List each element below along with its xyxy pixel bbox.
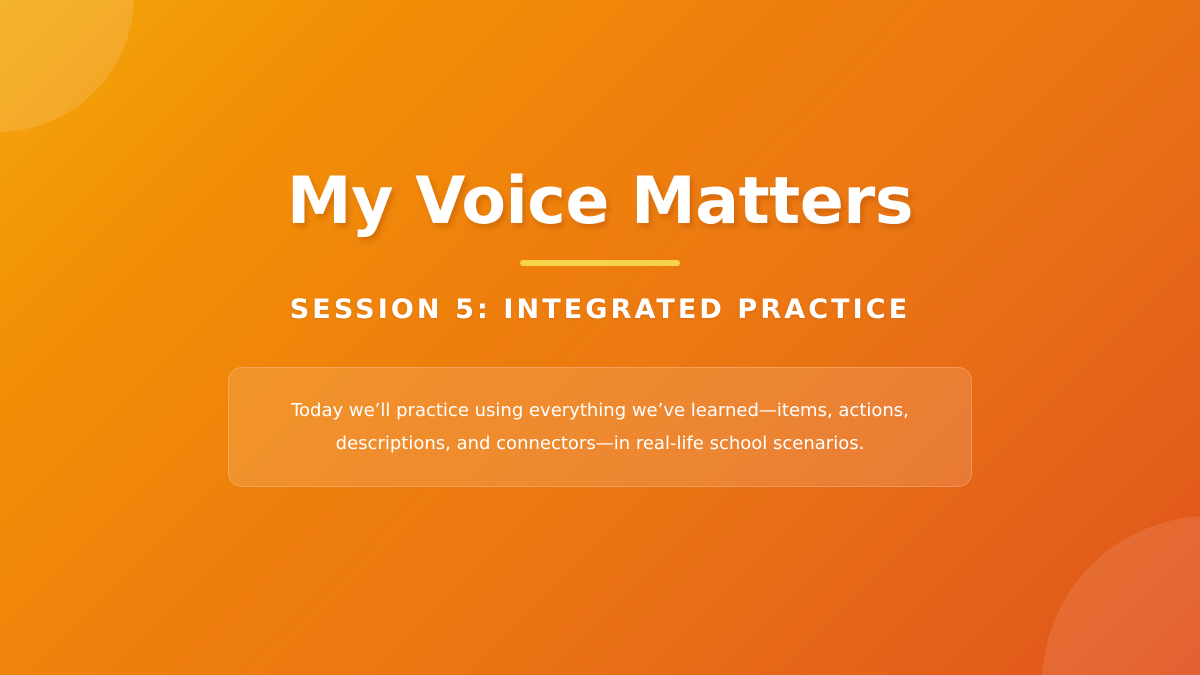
intro-card: Today we’ll practice using everything we… <box>228 367 972 487</box>
slide-title: My Voice Matters <box>287 168 913 236</box>
title-underline-accent <box>520 260 680 266</box>
presentation-slide: My Voice Matters SESSION 5: INTEGRATED P… <box>0 0 1200 675</box>
intro-card-text: Today we’ll practice using everything we… <box>273 394 927 460</box>
slide-subtitle: SESSION 5: INTEGRATED PRACTICE <box>290 294 911 325</box>
slide-content: My Voice Matters SESSION 5: INTEGRATED P… <box>0 0 1200 675</box>
